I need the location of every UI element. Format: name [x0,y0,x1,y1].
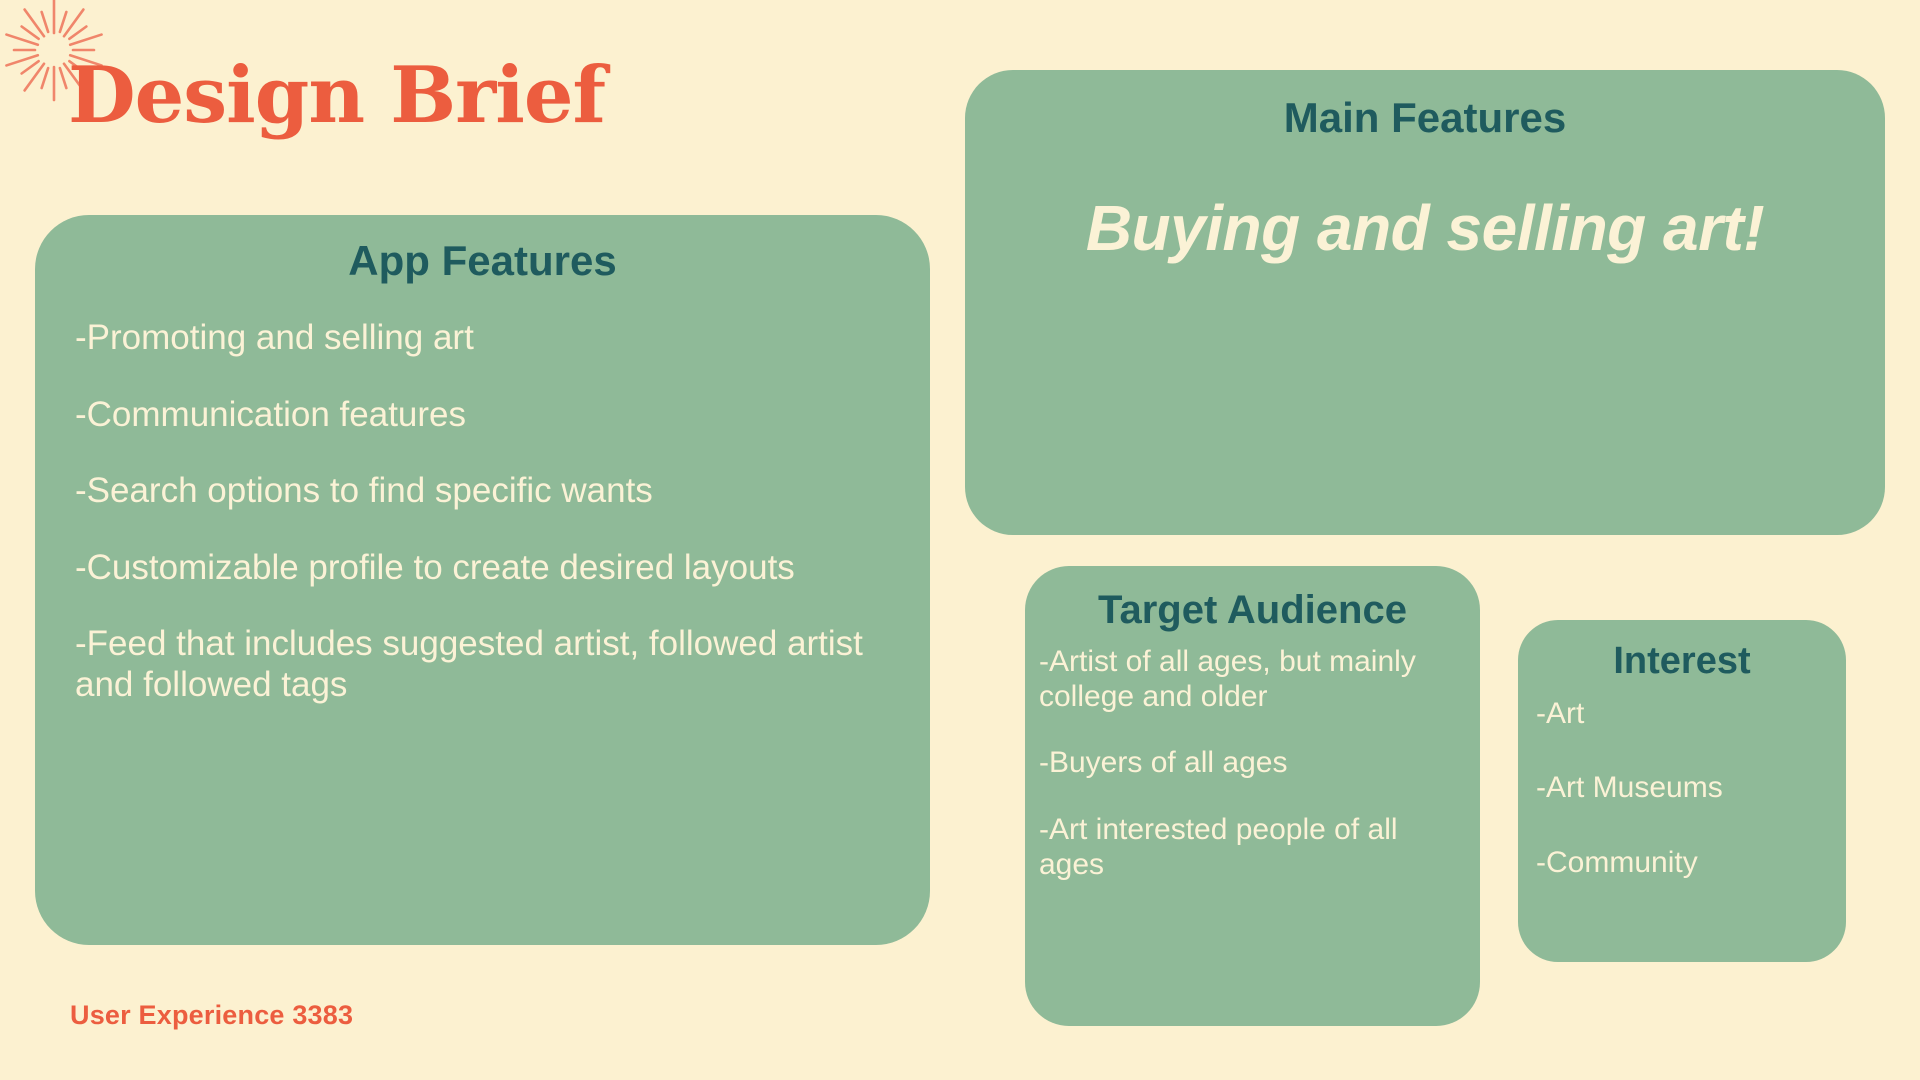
card-interest-title: Interest [1518,640,1846,683]
list-item: -Artist of all ages, but mainly college … [1039,645,1460,715]
slide-canvas: Design Brief App Features -Promoting and… [0,0,1920,1080]
list-item: -Community [1536,846,1830,881]
list-item: -Art Museums [1536,771,1830,806]
card-app-features-list: -Promoting and selling art -Communicatio… [35,318,930,706]
card-app-features: App Features -Promoting and selling art … [35,215,930,945]
list-item: -Promoting and selling art [75,318,892,359]
card-main-features-headline: Buying and selling art! [965,193,1885,263]
card-target-audience: Target Audience -Artist of all ages, but… [1025,566,1480,1026]
list-item: -Communication features [75,395,892,436]
list-item: -Feed that includes suggested artist, fo… [75,624,892,705]
card-app-features-title: App Features [35,237,930,284]
page-title: Design Brief [68,54,605,138]
list-item: -Search options to find specific wants [75,471,892,512]
list-item: -Customizable profile to create desired … [75,548,892,589]
card-interest: Interest -Art -Art Museums -Community [1518,620,1846,962]
footer-note: User Experience 3383 [70,1000,353,1031]
card-target-audience-title: Target Audience [1025,588,1480,633]
list-item: -Art [1536,697,1830,732]
card-main-features-title: Main Features [965,94,1885,141]
card-interest-list: -Art -Art Museums -Community [1518,697,1846,881]
list-item: -Art interested people of all ages [1039,813,1460,883]
card-main-features: Main Features Buying and selling art! [965,70,1885,535]
card-target-audience-list: -Artist of all ages, but mainly college … [1025,645,1480,883]
list-item: -Buyers of all ages [1039,746,1460,781]
